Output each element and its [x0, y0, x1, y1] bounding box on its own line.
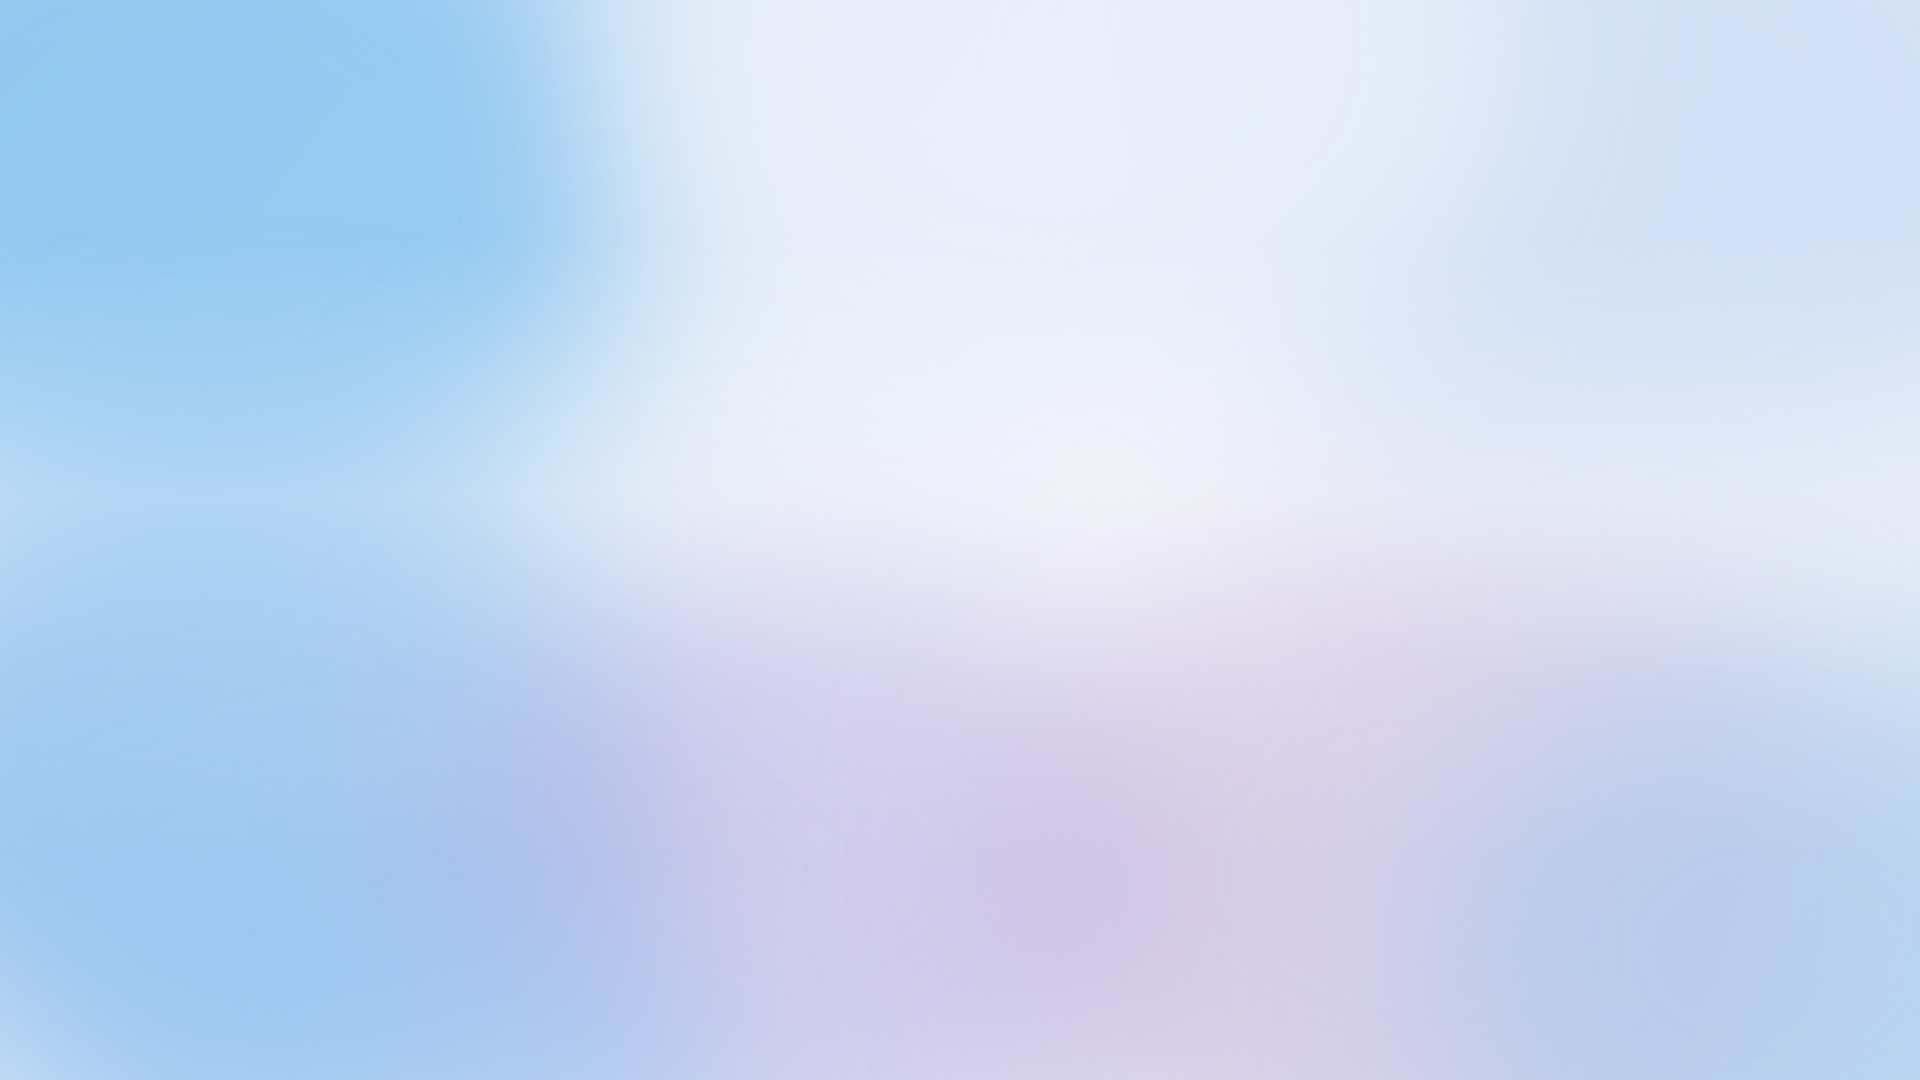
stage-arrow-band	[76, 367, 1844, 465]
process-diagram	[0, 0, 1920, 1080]
